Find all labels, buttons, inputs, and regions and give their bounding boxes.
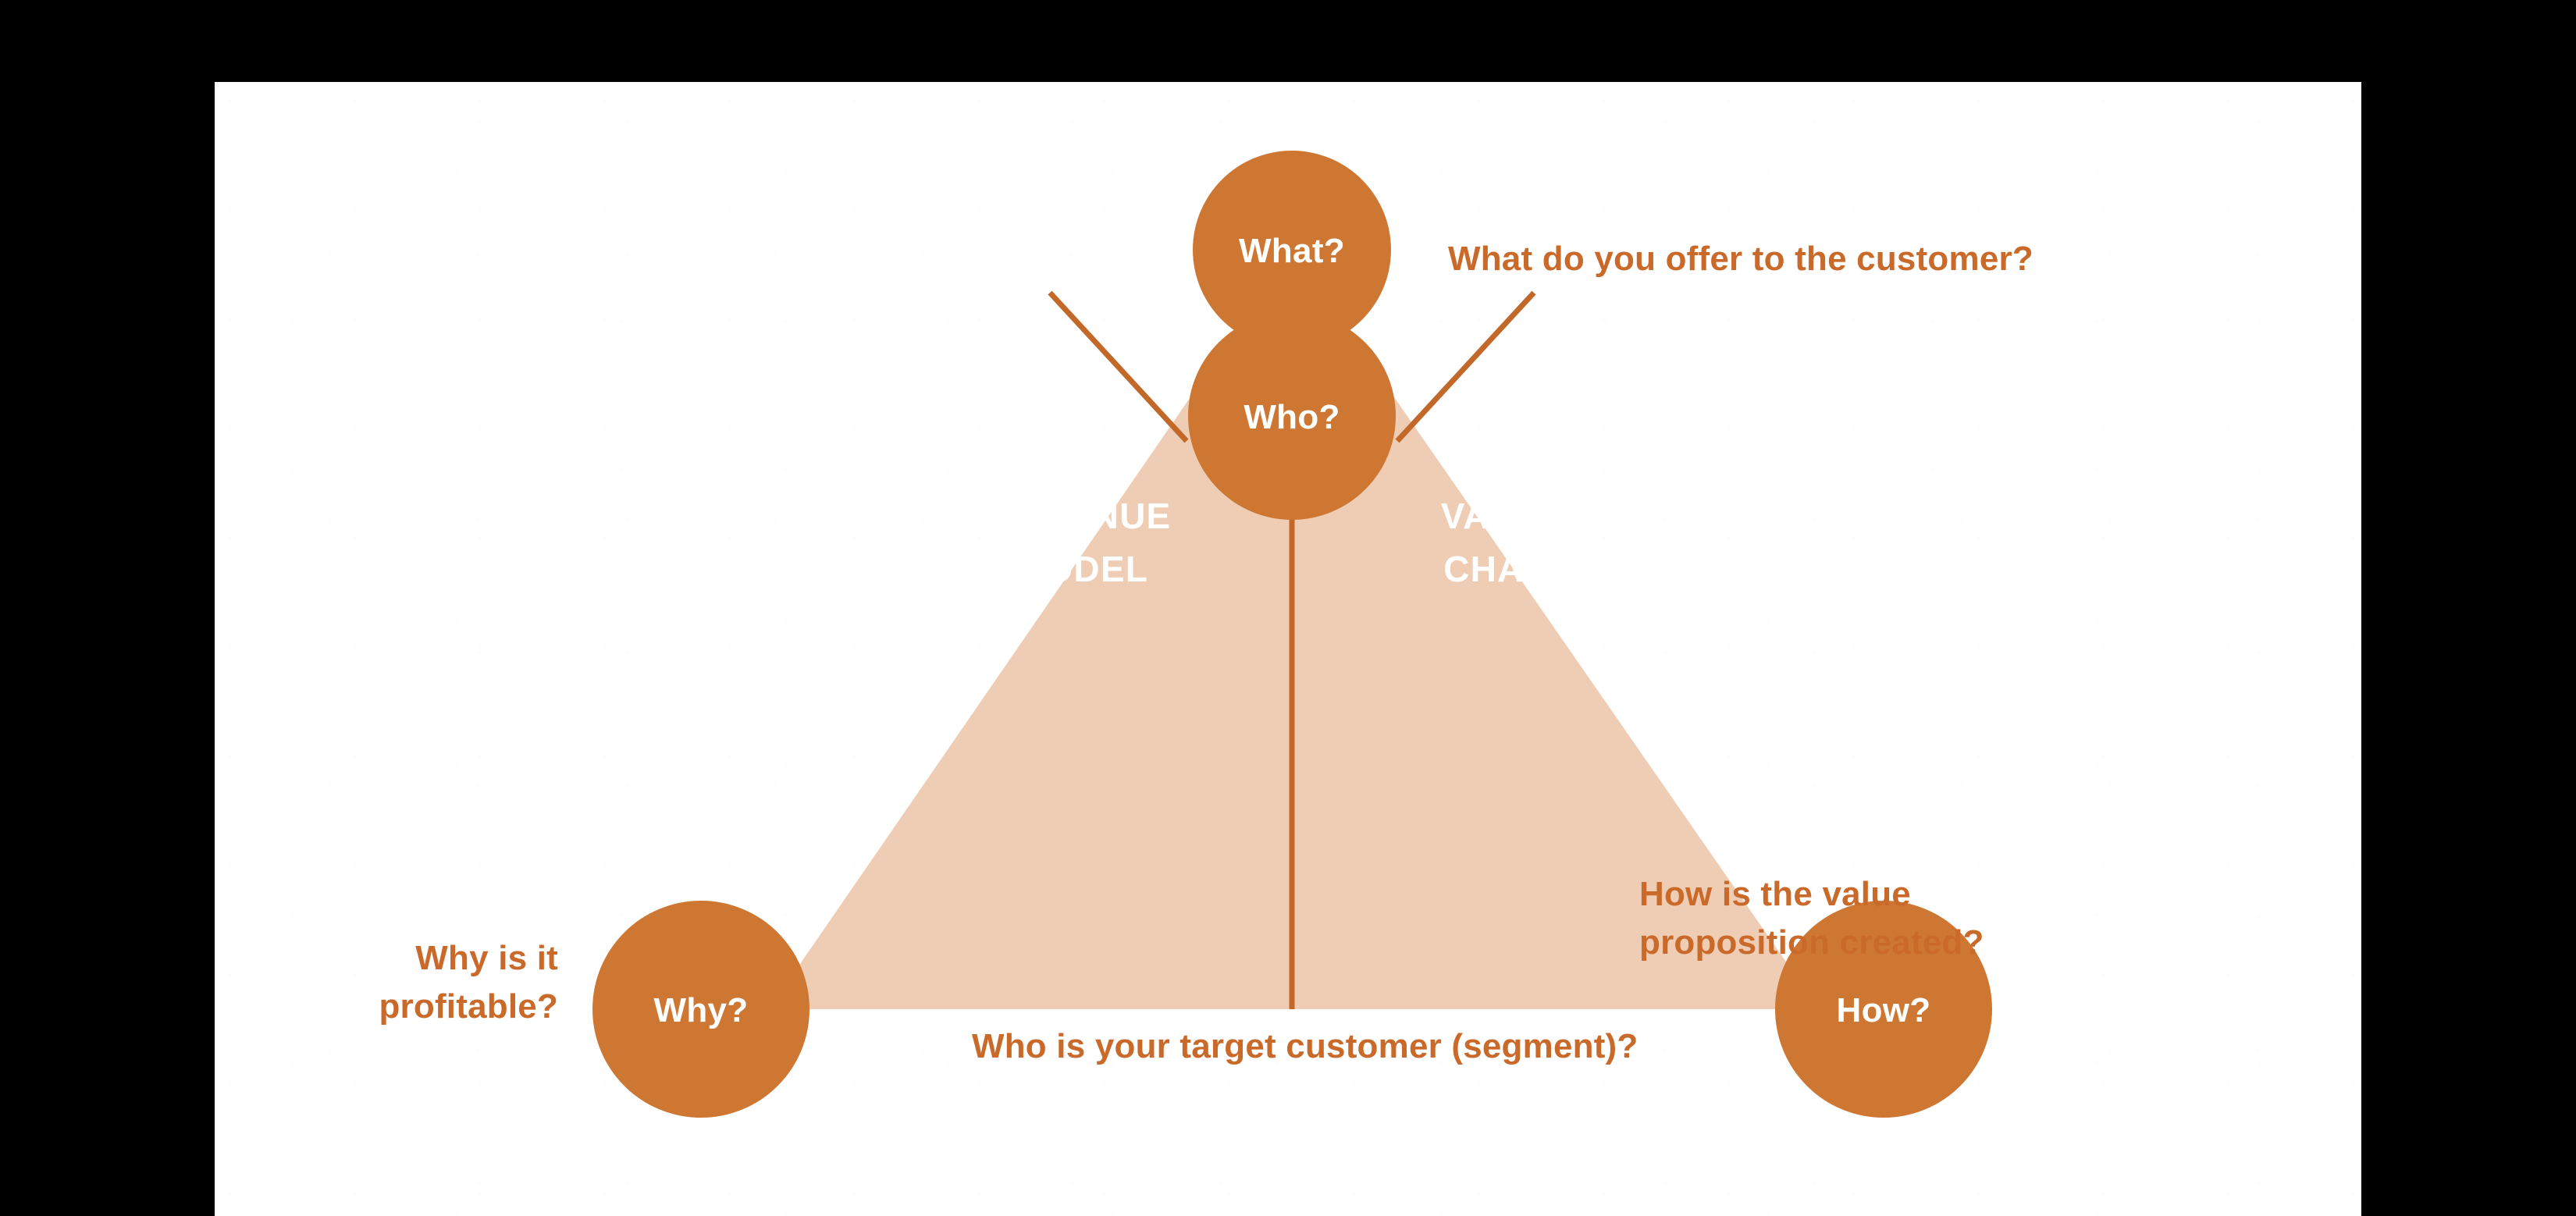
connector-line-to-value-proposition-right xyxy=(1397,293,1534,441)
segment-label-revenue-model-line1: REVENUE xyxy=(991,496,1172,536)
segment-label-value-chain-line2: CHAIN xyxy=(1443,549,1562,589)
annotation-what: What do you offer to the customer? xyxy=(1448,235,2033,283)
node-why-label: Why? xyxy=(654,991,749,1029)
node-who-label: Who? xyxy=(1244,398,1340,436)
segment-label-revenue-model-line2: MODEL xyxy=(1014,549,1148,589)
annotation-who: Who is your target customer (segment)? xyxy=(972,1022,1638,1071)
annotation-how: How is the value proposition created? xyxy=(1639,870,2076,968)
node-who[interactable]: Who? xyxy=(1188,312,1396,520)
connector-line-to-value-proposition-left xyxy=(1050,293,1187,441)
annotation-why: Why is it profitable? xyxy=(347,934,558,1032)
node-why[interactable]: Why? xyxy=(592,901,809,1118)
node-what-label: What? xyxy=(1239,232,1345,270)
slide-stage: VALUE PROPOSITION REVENUE MODEL VALUE CH… xyxy=(0,0,2576,1216)
node-how-label: How? xyxy=(1837,991,1931,1029)
slide-canvas: VALUE PROPOSITION REVENUE MODEL VALUE CH… xyxy=(215,82,2361,1216)
segment-label-value-chain-line1: VALUE xyxy=(1441,496,1565,536)
